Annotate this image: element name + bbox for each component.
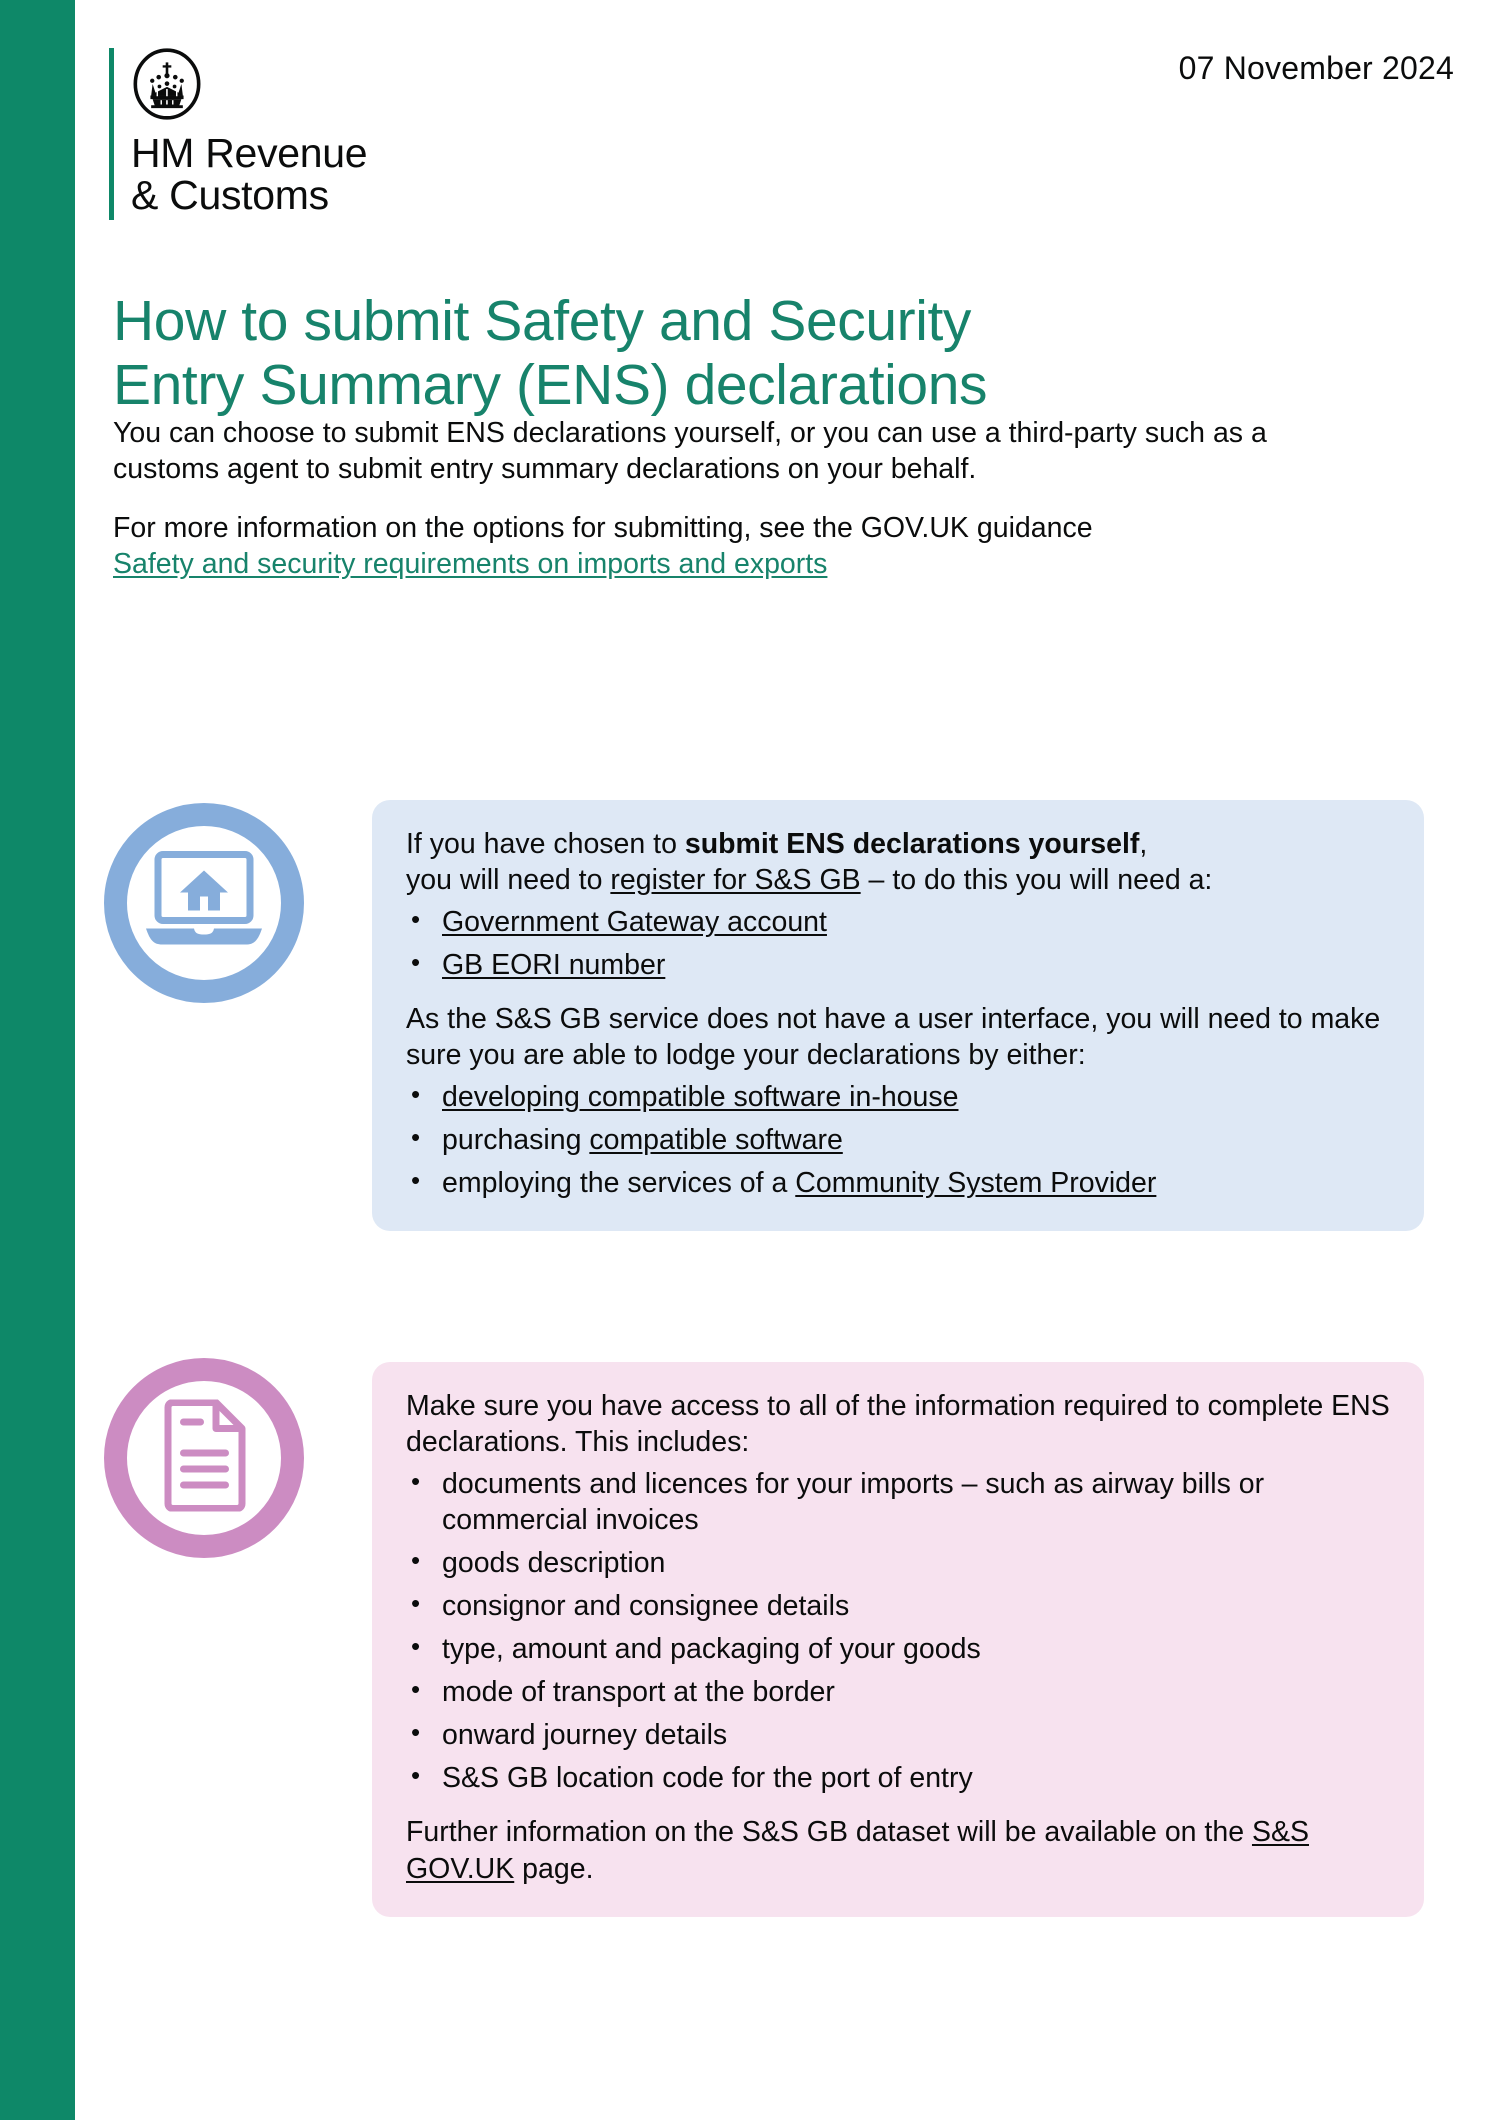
developing-software-in-house-link[interactable]: developing compatible software in-house [442, 1081, 958, 1113]
list-item: purchasing compatible software [406, 1122, 1390, 1158]
document-icon-circle [104, 1358, 304, 1558]
list-item: onward journey details [406, 1717, 1390, 1753]
intro-section: You can choose to submit ENS declaration… [113, 415, 1323, 583]
intro-paragraph-2: For more information on the options for … [113, 510, 1323, 583]
blue-intro-paragraph: If you have chosen to submit ENS declara… [406, 826, 1390, 898]
safety-security-requirements-link[interactable]: Safety and security requirements on impo… [113, 548, 827, 580]
logo-body: HM Revenue & Customs [131, 48, 367, 220]
list-item: documents and licences for your imports … [406, 1466, 1390, 1538]
list-item: consignor and consignee details [406, 1588, 1390, 1624]
laptop-house-icon [142, 849, 266, 958]
blue-intro-bold: submit ENS declarations yourself [685, 828, 1140, 860]
list-item: goods description [406, 1545, 1390, 1581]
information-required-callout: Make sure you have access to all of the … [372, 1362, 1424, 1917]
page-title: How to submit Safety and Security Entry … [113, 290, 1293, 418]
royal-crown-icon [131, 48, 203, 120]
blue-intro-line2-after: – to do this you will need a: [861, 864, 1213, 896]
pink-list-information: documents and licences for your imports … [406, 1466, 1390, 1796]
submit-yourself-callout: If you have chosen to submit ENS declara… [372, 800, 1424, 1231]
pink-footer-paragraph: Further information on the S&S GB datase… [406, 1814, 1390, 1886]
pink-paragraph-1: Make sure you have access to all of the … [406, 1388, 1390, 1460]
option-3-prefix: employing the services of a [442, 1167, 795, 1199]
blue-intro-before-bold: If you have chosen to [406, 828, 685, 860]
blue-intro-line2-before: you will need to [406, 864, 610, 896]
list-item: GB EORI number [406, 947, 1390, 983]
option-2-prefix: purchasing [442, 1124, 589, 1156]
blue-list-lodging-options: developing compatible software in-house … [406, 1079, 1390, 1201]
community-system-provider-link[interactable]: Community System Provider [795, 1167, 1156, 1199]
government-gateway-account-link[interactable]: Government Gateway account [442, 906, 827, 938]
blue-paragraph-2: As the S&S GB service does not have a us… [406, 1001, 1390, 1073]
blue-intro-after-bold: , [1139, 828, 1147, 860]
left-green-spine [0, 0, 75, 2120]
register-ss-gb-link[interactable]: register for S&S GB [610, 864, 860, 896]
pink-footer-before-link: Further information on the S&S GB datase… [406, 1816, 1252, 1848]
logo-green-rule [109, 48, 114, 220]
page-header: 07 November 2024 [75, 0, 1499, 300]
compatible-software-link[interactable]: compatible software [589, 1124, 842, 1156]
list-item: developing compatible software in-house [406, 1079, 1390, 1115]
pink-footer-after-link: page. [514, 1853, 593, 1885]
hmrc-logo: HM Revenue & Customs [109, 48, 367, 220]
list-item: S&S GB location code for the port of ent… [406, 1760, 1390, 1796]
list-item: Government Gateway account [406, 904, 1390, 940]
list-item: mode of transport at the border [406, 1674, 1390, 1710]
intro-paragraph-2-lead: For more information on the options for … [113, 512, 1093, 544]
document-date: 07 November 2024 [1179, 50, 1454, 87]
intro-paragraph-1: You can choose to submit ENS declaration… [113, 415, 1323, 488]
hmrc-logo-text: HM Revenue & Customs [131, 133, 367, 217]
list-item: type, amount and packaging of your goods [406, 1631, 1390, 1667]
page-content: 07 November 2024 [75, 0, 1499, 2120]
blue-list-requirements: Government Gateway account GB EORI numbe… [406, 904, 1390, 983]
list-item: employing the services of a Community Sy… [406, 1165, 1390, 1201]
document-lines-icon [159, 1400, 249, 1517]
gb-eori-number-link[interactable]: GB EORI number [442, 949, 665, 981]
laptop-house-icon-circle [104, 803, 304, 1003]
